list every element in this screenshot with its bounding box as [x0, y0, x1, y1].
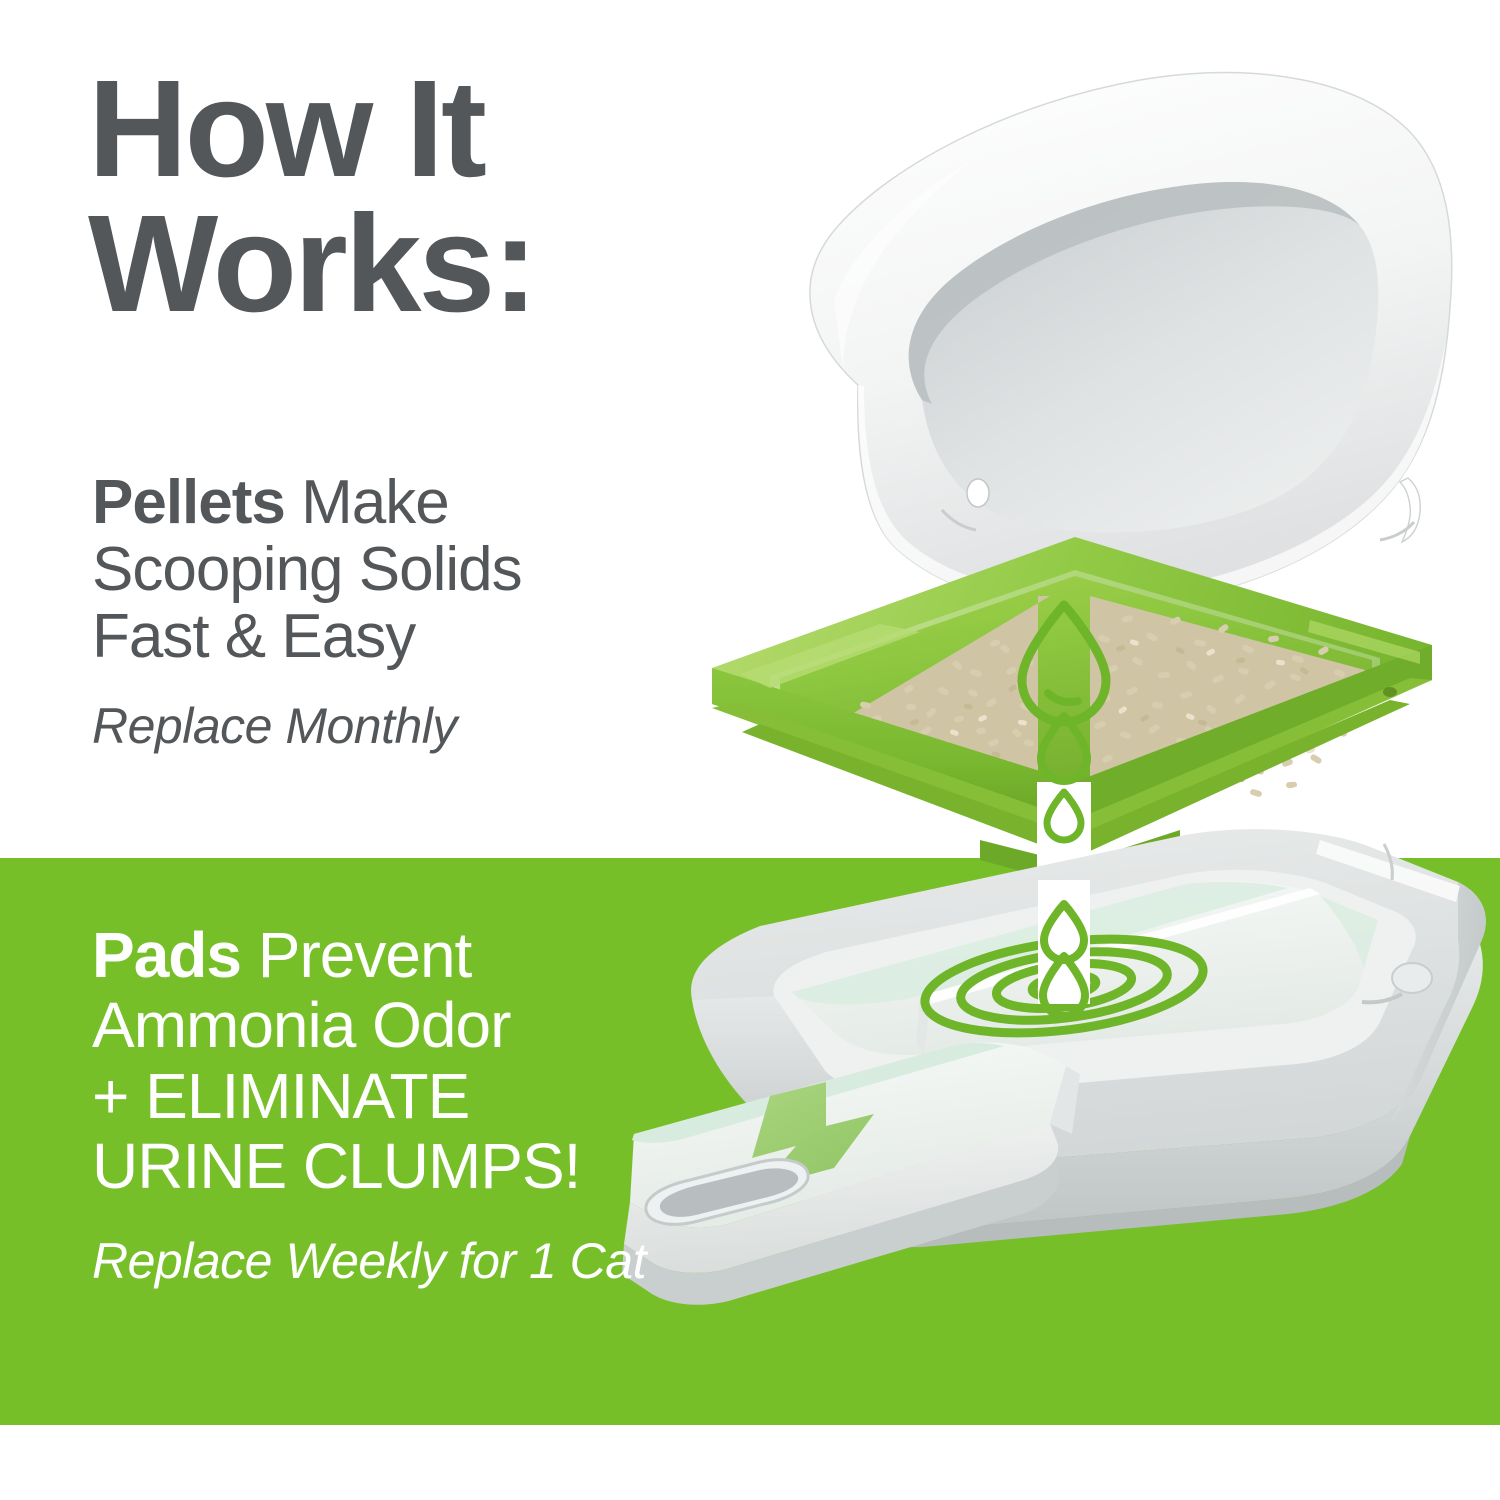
- pads-replace-note: Replace Weekly for 1 Cat: [92, 1232, 732, 1290]
- pads-line-3: + ELIMINATE: [92, 1061, 732, 1131]
- pellets-line-1-rest: Make: [285, 468, 449, 537]
- pellets-line-3: Fast & Easy: [92, 604, 712, 671]
- pellets-line-1: Pellets Make: [92, 470, 712, 537]
- pellets-feature-block: Pellets Make Scooping Solids Fast & Easy…: [92, 470, 712, 755]
- page-title: How It Works:: [88, 62, 728, 332]
- infographic-canvas: How It Works: Pellets Make Scooping Soli…: [0, 0, 1500, 1500]
- pellets-lead-word: Pellets: [92, 468, 285, 537]
- page-title-line-2: Works:: [88, 197, 728, 332]
- page-title-line-1: How It: [88, 62, 728, 197]
- pads-line-1: Pads Prevent: [92, 920, 732, 990]
- hood-rim-part: [810, 73, 1452, 610]
- pellets-line-2: Scooping Solids: [92, 537, 712, 604]
- pellets-replace-note: Replace Monthly: [92, 697, 712, 755]
- pads-line-1-rest: Prevent: [241, 919, 471, 991]
- pads-line-4: URINE CLUMPS!: [92, 1131, 732, 1201]
- pads-line-2: Ammonia Odor: [92, 990, 732, 1060]
- pads-lead-word: Pads: [92, 919, 241, 991]
- pads-feature-block: Pads Prevent Ammonia Odor + ELIMINATE UR…: [92, 920, 732, 1290]
- product-illustration: [620, 40, 1500, 1310]
